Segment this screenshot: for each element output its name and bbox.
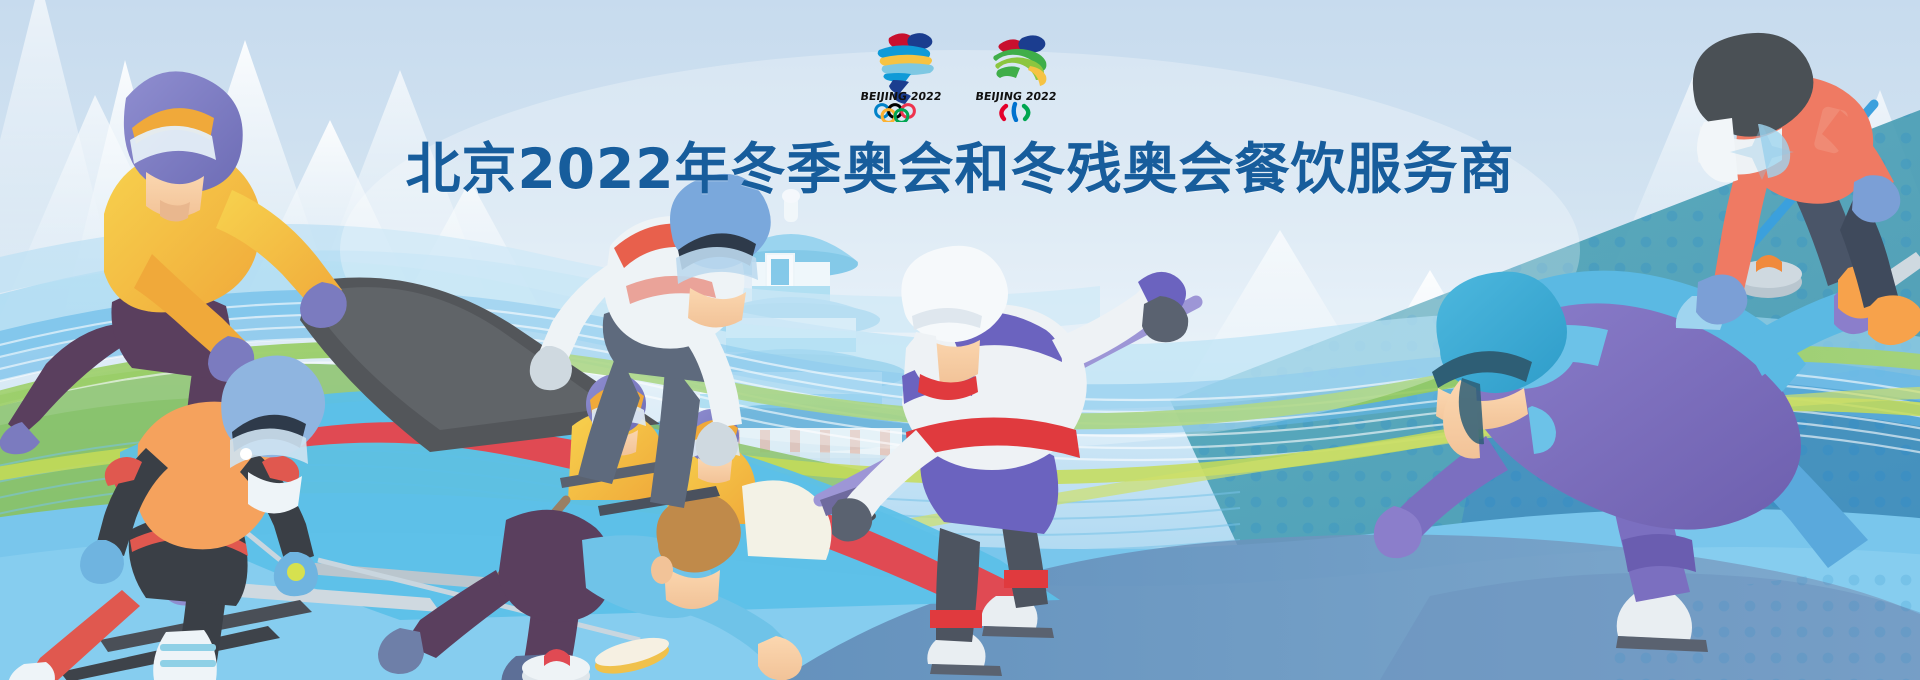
- emblem-group: BEIJING 2022: [855, 22, 1070, 122]
- paralympic-emblem-mark: [993, 35, 1046, 86]
- olympic-wordmark-text: BEIJING 2022: [860, 90, 943, 103]
- speed-skater-right: [1374, 252, 1920, 652]
- page-title: 北京2022年冬季奥会和冬残奥会餐饮服务商: [0, 124, 1920, 204]
- beijing-2022-olympic-emblem: BEIJING 2022: [855, 22, 955, 122]
- beijing-2022-paralympic-emblem: BEIJING 2022: [970, 22, 1070, 122]
- paralympic-wordmark-text: BEIJING 2022: [975, 90, 1058, 103]
- olympic-rings: [876, 105, 915, 122]
- paralympic-wordmark: BEIJING 2022: [975, 90, 1058, 103]
- ice-hockey-player: [820, 246, 1196, 676]
- olympic-wordmark: BEIJING 2022: [860, 90, 943, 103]
- olympic-banner: BEIJING 2022: [0, 0, 1920, 680]
- paralympic-agitos: [1001, 104, 1028, 120]
